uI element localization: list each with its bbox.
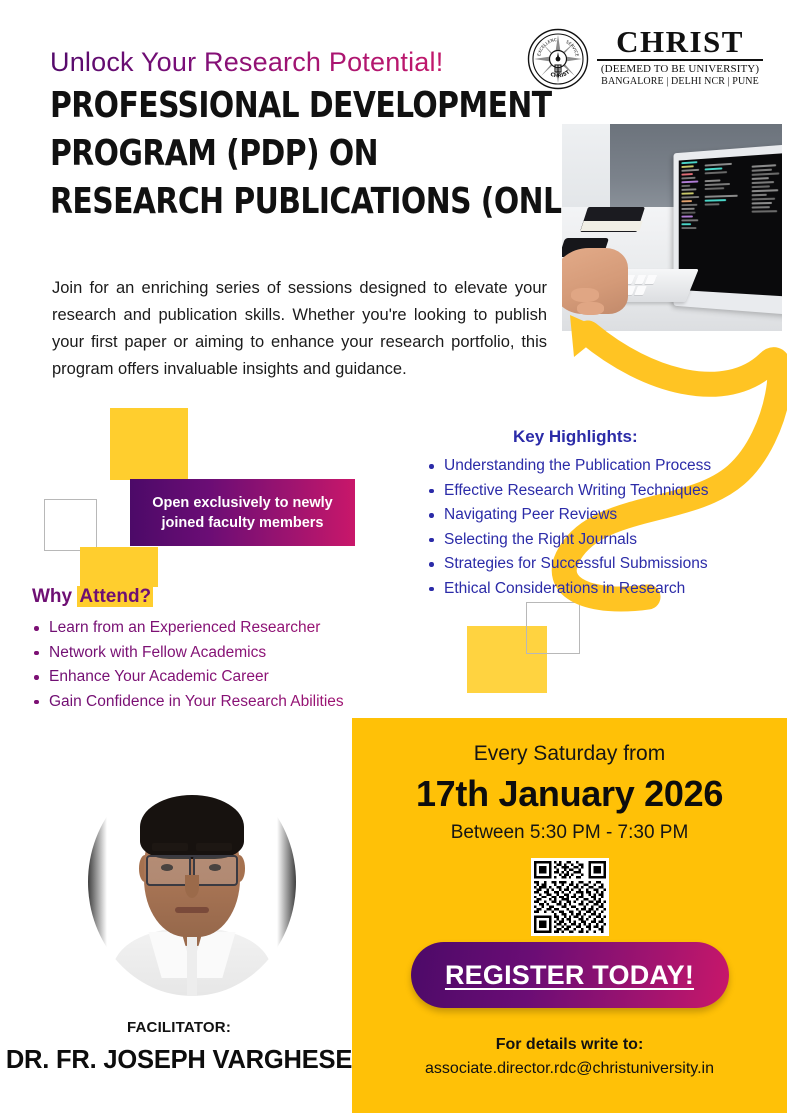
- register-today-button[interactable]: REGISTER TODAY!: [411, 942, 729, 1008]
- list-item: Ethical Considerations in Research: [427, 577, 777, 602]
- christ-logo-sub1: (DEEMED TO BE UNIVERSITY): [597, 63, 763, 76]
- list-item: Network with Fellow Academics: [32, 641, 432, 666]
- contact-email[interactable]: associate.director.rdc@christuniversity.…: [352, 1060, 787, 1078]
- decor-square-outline-1: [44, 499, 97, 551]
- intro-paragraph: Join for an enriching series of sessions…: [52, 275, 547, 383]
- photo-finger-1: [571, 288, 600, 302]
- christ-university-logo: EXCELLENCE SERVICE CHRIST CHRIST (DEEMED…: [527, 28, 759, 90]
- computer-workspace-photo: [562, 124, 782, 331]
- list-item: Learn from an Experienced Researcher: [32, 616, 432, 641]
- decor-square-yellow-2: [80, 547, 158, 587]
- list-item: Gain Confidence in Your Research Abiliti…: [32, 690, 432, 715]
- avatar-nose: [185, 875, 200, 898]
- avatar-brow-right: [196, 843, 231, 850]
- christ-logo-name: CHRIST: [597, 26, 763, 61]
- qr-code[interactable]: [531, 858, 609, 936]
- why-attend-title-part1: Why: [32, 586, 77, 607]
- title-line-2: PROGRAM (PDP) ON: [50, 130, 510, 178]
- key-highlights-list: Understanding the Publication Process Ef…: [427, 454, 777, 602]
- page-title: PROFESSIONAL DEVELOPMENT PROGRAM (PDP) O…: [50, 82, 550, 226]
- banner-line-1: Open exclusively to newly: [152, 493, 333, 513]
- register-button-label: REGISTER TODAY!: [445, 960, 694, 991]
- contact-label: For details write to:: [352, 1036, 787, 1054]
- facilitator-role-label: FACILITATOR:: [0, 1019, 358, 1036]
- photo-finger-2: [577, 302, 603, 315]
- poster-root: Unlock Your Research Potential! PROFESSI…: [0, 0, 787, 1113]
- facilitator-name: DR. FR. JOSEPH VARGHESE: [0, 1046, 358, 1075]
- why-attend-title: Why Attend?: [32, 586, 153, 608]
- event-details-panel: Every Saturday from 17th January 2026 Be…: [352, 718, 787, 1113]
- avatar-shade-right: [277, 809, 296, 955]
- banner-line-2: joined faculty members: [152, 513, 333, 533]
- decor-square-outline-2: [526, 602, 580, 654]
- christ-logo-text: CHRIST (DEEMED TO BE UNIVERSITY) BANGALO…: [597, 26, 763, 88]
- avatar-placket: [187, 937, 197, 996]
- christ-emblem-icon: EXCELLENCE SERVICE CHRIST: [527, 28, 589, 90]
- list-item: Strategies for Successful Submissions: [427, 552, 777, 577]
- list-item: Enhance Your Academic Career: [32, 665, 432, 690]
- list-item: Understanding the Publication Process: [427, 454, 777, 479]
- key-highlights-title: Key Highlights:: [513, 427, 638, 447]
- photo-notebook-pages: [580, 221, 643, 231]
- event-time: Between 5:30 PM - 7:30 PM: [352, 822, 787, 844]
- exclusivity-banner: Open exclusively to newly joined faculty…: [130, 479, 355, 546]
- facilitator-avatar: [88, 768, 296, 996]
- banner-text: Open exclusively to newly joined faculty…: [152, 493, 333, 533]
- title-line-1: PROFESSIONAL DEVELOPMENT: [50, 82, 510, 130]
- poster-tagline: Unlock Your Research Potential!: [50, 47, 443, 78]
- decor-square-yellow-1: [110, 408, 188, 480]
- photo-wall-light: [562, 124, 610, 215]
- avatar-brow-left: [152, 843, 187, 850]
- avatar-lens-left: [146, 855, 190, 886]
- event-frequency: Every Saturday from: [352, 742, 787, 766]
- title-line-3: RESEARCH PUBLICATIONS (ONLINE): [50, 178, 510, 226]
- avatar-shade-left: [88, 809, 107, 955]
- event-date: 17th January 2026: [352, 773, 787, 815]
- christ-logo-sub2: BANGALORE | DELHI NCR | PUNE: [597, 76, 763, 88]
- list-item: Effective Research Writing Techniques: [427, 479, 777, 504]
- avatar-mouth: [175, 907, 208, 912]
- list-item: Navigating Peer Reviews: [427, 503, 777, 528]
- avatar-lens-right: [193, 855, 237, 886]
- list-item: Selecting the Right Journals: [427, 528, 777, 553]
- why-attend-list: Learn from an Experienced Researcher Net…: [32, 616, 432, 714]
- why-attend-title-part2: Attend?: [77, 586, 153, 607]
- avatar-glasses-bridge: [180, 855, 205, 857]
